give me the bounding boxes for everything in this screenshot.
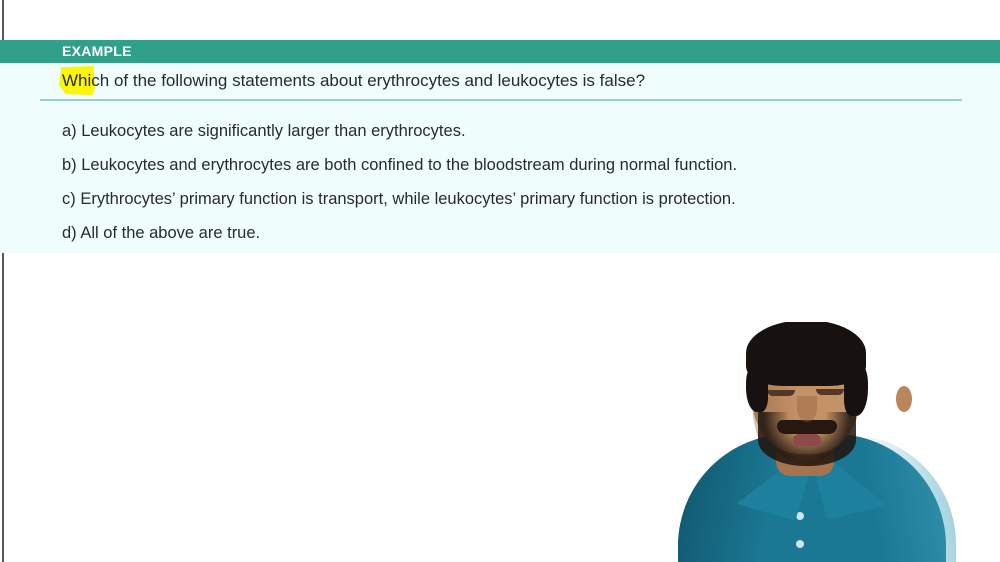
answer-option-b[interactable]: b) Leukocytes and erythrocytes are both …: [62, 148, 972, 182]
presenter-moustache: [777, 420, 837, 434]
answer-options-list: a) Leukocytes are significantly larger t…: [62, 114, 972, 250]
lecture-slide: EXAMPLE Which of the following statement…: [0, 0, 1000, 562]
presenter-hair-side-right: [844, 362, 868, 416]
question-divider: [40, 99, 962, 101]
presenter-eye-left: [767, 390, 795, 396]
presenter-eye-right: [816, 389, 844, 395]
answer-option-d[interactable]: d) All of the above are true.: [62, 216, 972, 250]
question-text: Which of the following statements about …: [62, 68, 645, 94]
presenter-video-overlay: [660, 322, 1000, 562]
presenter-mouth: [793, 434, 821, 446]
example-card: EXAMPLE Which of the following statement…: [0, 40, 1000, 253]
presenter-hair-side-left: [746, 364, 768, 412]
answer-option-c[interactable]: c) Erythrocytes’ primary function is tra…: [62, 182, 972, 216]
example-banner-label: EXAMPLE: [62, 42, 132, 61]
answer-option-a[interactable]: a) Leukocytes are significantly larger t…: [62, 114, 972, 148]
presenter-nose: [797, 396, 817, 422]
question-row: Which of the following statements about …: [62, 68, 972, 94]
slide-top-margin: [0, 0, 1000, 40]
presenter-shirt-button-lower: [796, 540, 804, 548]
example-banner: EXAMPLE: [0, 40, 1000, 63]
presenter-ear: [896, 386, 912, 412]
